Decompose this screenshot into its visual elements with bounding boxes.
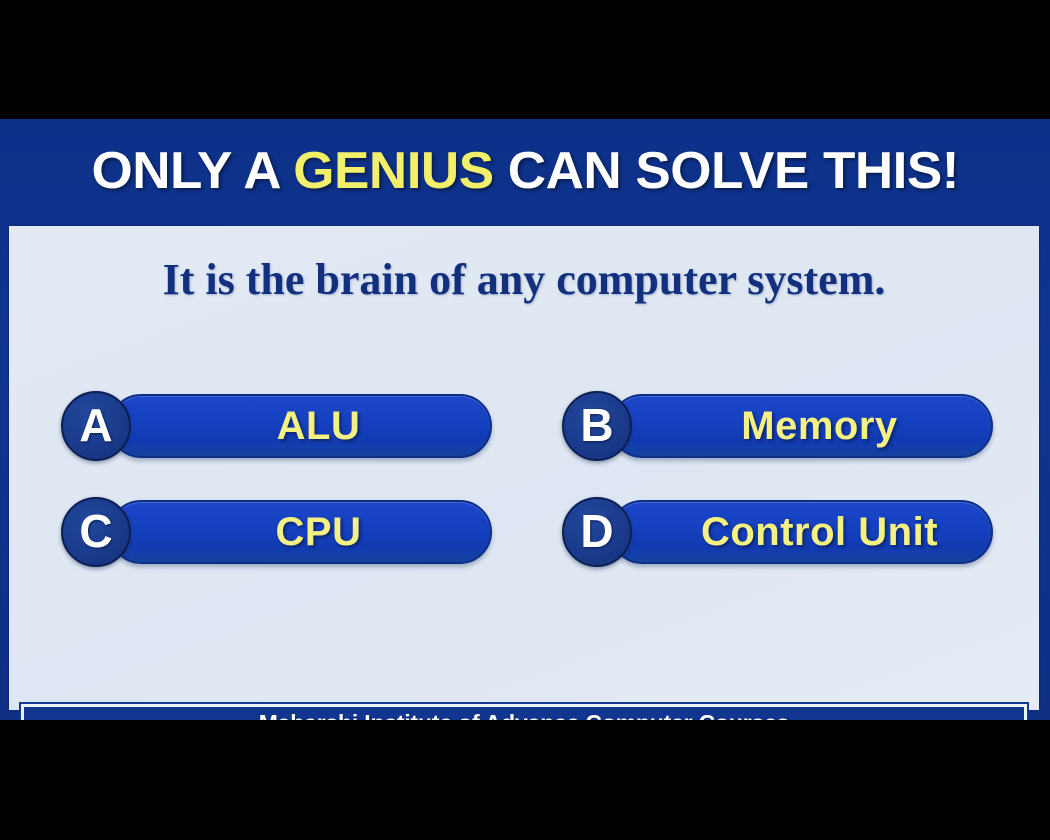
contact-lines: Maharshi Institute of Advance Computer C… — [24, 707, 1024, 720]
option-b-label: Memory — [741, 404, 897, 449]
contact-footer: Maharshi Institute of Advance Computer C… — [21, 704, 1027, 720]
question-container: It is the brain of any computer system. — [9, 254, 1039, 305]
option-a[interactable]: ALU A — [61, 391, 492, 461]
header-band: ONLY A GENIUS CAN SOLVE THIS! — [0, 119, 1050, 223]
options-row-1: ALU A Memory — [61, 391, 993, 461]
options-grid: ALU A Memory — [61, 391, 993, 603]
option-c-circle: C — [61, 497, 131, 567]
option-d-circle: D — [562, 497, 632, 567]
option-a-pill[interactable]: ALU — [109, 394, 492, 458]
option-b-badge: B — [562, 391, 654, 461]
institute-name: Maharshi Institute of Advance Computer C… — [259, 710, 790, 721]
letterbox-top — [0, 0, 1050, 119]
headline-prefix: ONLY A — [91, 142, 293, 200]
letterbox-bottom — [0, 720, 1050, 840]
poster-stage: ONLY A GENIUS CAN SOLVE THIS! It is the … — [0, 0, 1050, 840]
page-title: ONLY A GENIUS CAN SOLVE THIS! — [91, 141, 958, 201]
options-row-2: CPU C Control Unit — [61, 497, 993, 567]
option-c[interactable]: CPU C — [61, 497, 492, 567]
quiz-poster: ONLY A GENIUS CAN SOLVE THIS! It is the … — [0, 119, 1050, 720]
option-d[interactable]: Control Unit D — [562, 497, 993, 567]
option-d-pill[interactable]: Control Unit — [610, 500, 993, 564]
option-c-badge: C — [61, 497, 153, 567]
headline-suffix: CAN SOLVE THIS! — [493, 142, 958, 200]
option-b-letter: B — [580, 402, 613, 448]
option-d-label: Control Unit — [701, 510, 938, 555]
option-a-badge: A — [61, 391, 153, 461]
headline-accent: GENIUS — [293, 142, 493, 200]
option-d-badge: D — [562, 497, 654, 567]
option-c-letter: C — [79, 508, 112, 554]
question-text: It is the brain of any computer system. — [9, 254, 1039, 305]
option-b-circle: B — [562, 391, 632, 461]
content-panel: It is the brain of any computer system. … — [9, 226, 1039, 710]
option-c-pill[interactable]: CPU — [109, 500, 492, 564]
option-a-label: ALU — [277, 404, 361, 449]
option-a-circle: A — [61, 391, 131, 461]
option-b[interactable]: Memory B — [562, 391, 993, 461]
option-b-pill[interactable]: Memory — [610, 394, 993, 458]
option-a-letter: A — [79, 402, 112, 448]
option-d-letter: D — [580, 508, 613, 554]
option-c-label: CPU — [276, 510, 362, 555]
